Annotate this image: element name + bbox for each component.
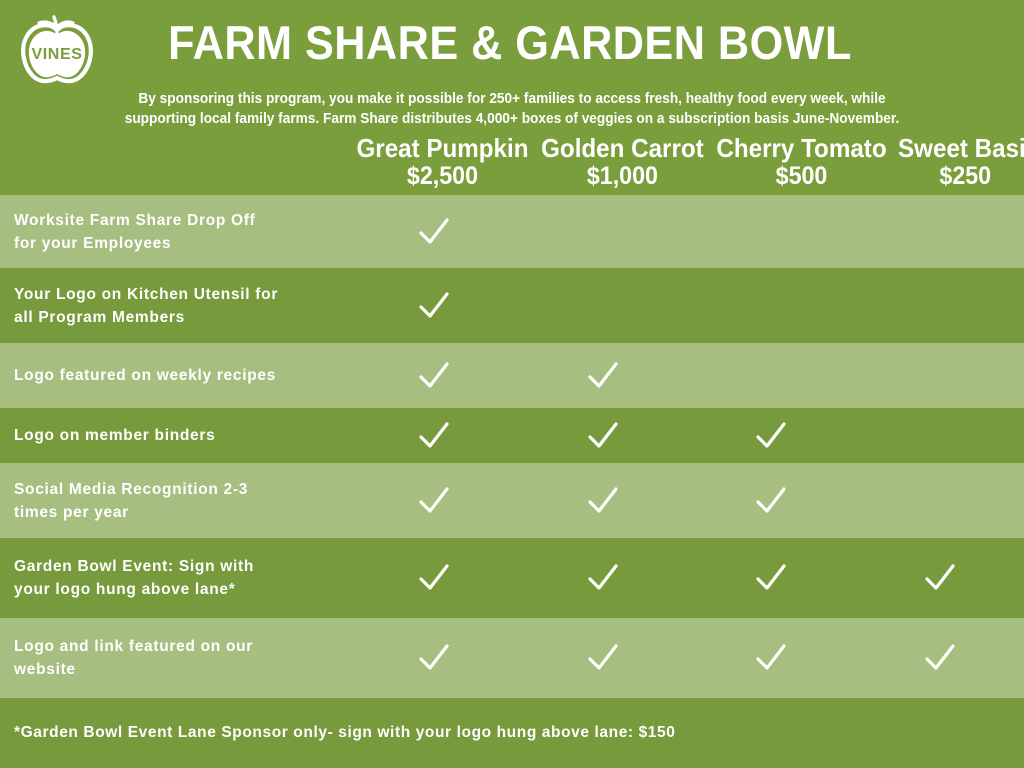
benefit-label: Your Logo on Kitchen Utensil forall Prog…: [0, 283, 350, 329]
tier-price-cherry-tomato: $500: [716, 162, 886, 190]
check-icon: [586, 641, 620, 675]
benefit-label: Logo featured on weekly recipes: [0, 364, 350, 387]
benefit-label: Logo on member binders: [0, 424, 350, 447]
check-icon: [923, 641, 957, 675]
tier-price-golden-carrot: $1,000: [541, 162, 704, 190]
benefit-cell-golden-carrot: [519, 618, 688, 698]
benefit-label-line1: Logo and link featured on our: [14, 635, 342, 658]
tier-name-sweet-basil: Sweet Basil: [898, 134, 1024, 162]
table-row: Social Media Recognition 2-3times per ye…: [0, 463, 1024, 538]
benefit-label: Logo and link featured on ourwebsite: [0, 635, 350, 681]
poster-footer: *Garden Bowl Event Lane Sponsor only- si…: [0, 698, 1024, 768]
tier-name-golden-carrot: Golden Carrot: [541, 134, 704, 162]
benefit-cell-golden-carrot: [519, 463, 688, 538]
benefit-cell-great-pumpkin: [350, 538, 519, 618]
table-row: Logo on member binders: [0, 408, 1024, 463]
tier-name-cherry-tomato: Cherry Tomato: [716, 134, 886, 162]
check-icon: [417, 359, 451, 393]
benefit-cell-cherry-tomato: [687, 195, 856, 268]
check-icon: [417, 641, 451, 675]
benefit-cell-cherry-tomato: [687, 538, 856, 618]
benefit-label-line1: Logo featured on weekly recipes: [14, 364, 342, 387]
benefits-table: Worksite Farm Share Drop Offfor your Emp…: [0, 195, 1024, 698]
program-description-line1: By sponsoring this program, you make it …: [45, 90, 980, 110]
check-icon: [754, 641, 788, 675]
benefit-cell-great-pumpkin: [350, 618, 519, 698]
benefit-cell-cherry-tomato: [687, 618, 856, 698]
benefit-label: Garden Bowl Event: Sign withyour logo hu…: [0, 555, 350, 601]
benefit-label-line1: Worksite Farm Share Drop Off: [14, 209, 342, 232]
check-icon: [417, 215, 451, 249]
table-row: Worksite Farm Share Drop Offfor your Emp…: [0, 195, 1024, 268]
sponsorship-tier-poster: VINES FARM SHARE & GARDEN BOWL By sponso…: [0, 0, 1024, 768]
benefit-cell-great-pumpkin: [350, 408, 519, 463]
table-row: Your Logo on Kitchen Utensil forall Prog…: [0, 268, 1024, 343]
check-icon: [754, 419, 788, 453]
benefit-cell-sweet-basil: [856, 343, 1024, 408]
benefit-cell-sweet-basil: [856, 408, 1024, 463]
check-icon: [417, 419, 451, 453]
benefit-label-line2: for your Employees: [14, 232, 342, 255]
tier-name-great-pumpkin: Great Pumpkin: [356, 134, 528, 162]
check-icon: [586, 359, 620, 393]
check-icon: [586, 561, 620, 595]
check-icon: [586, 419, 620, 453]
benefit-cell-golden-carrot: [519, 538, 688, 618]
benefit-cell-sweet-basil: [856, 268, 1024, 343]
benefit-label-line1: Garden Bowl Event: Sign with: [14, 555, 342, 578]
page-title: FARM SHARE & GARDEN BOWL: [142, 16, 878, 70]
benefit-cell-sweet-basil: [856, 538, 1024, 618]
benefit-label-line2: times per year: [14, 501, 342, 524]
benefit-label-line2: website: [14, 658, 342, 681]
benefit-label-line1: Social Media Recognition 2-3: [14, 478, 342, 501]
tier-price-great-pumpkin: $2,500: [356, 162, 528, 190]
table-row: Garden Bowl Event: Sign withyour logo hu…: [0, 538, 1024, 618]
benefit-cell-sweet-basil: [856, 195, 1024, 268]
benefit-cell-great-pumpkin: [350, 463, 519, 538]
benefit-cell-sweet-basil: [856, 463, 1024, 538]
benefit-cell-great-pumpkin: [350, 268, 519, 343]
benefit-label-line1: Logo on member binders: [14, 424, 342, 447]
column-header-great-pumpkin: Great Pumpkin $2,500: [350, 134, 535, 192]
check-icon: [754, 484, 788, 518]
benefit-cell-great-pumpkin: [350, 195, 519, 268]
benefit-cell-golden-carrot: [519, 195, 688, 268]
footnote: *Garden Bowl Event Lane Sponsor only- si…: [0, 724, 675, 742]
column-header-spacer: [0, 134, 350, 192]
tier-column-headers: Great Pumpkin $2,500 Golden Carrot $1,00…: [0, 134, 1024, 192]
benefit-cell-golden-carrot: [519, 408, 688, 463]
check-icon: [586, 484, 620, 518]
program-description: By sponsoring this program, you make it …: [45, 90, 980, 129]
vines-logo-text: VINES: [31, 46, 82, 63]
vines-logo: VINES: [16, 10, 98, 88]
benefit-cell-cherry-tomato: [687, 408, 856, 463]
benefit-label: Worksite Farm Share Drop Offfor your Emp…: [0, 209, 350, 255]
benefit-cell-cherry-tomato: [687, 343, 856, 408]
program-description-line2: supporting local family farms. Farm Shar…: [45, 110, 980, 130]
benefit-cell-golden-carrot: [519, 343, 688, 408]
benefit-label: Social Media Recognition 2-3times per ye…: [0, 478, 350, 524]
check-icon: [417, 484, 451, 518]
table-row: Logo and link featured on ourwebsite: [0, 618, 1024, 698]
column-header-cherry-tomato: Cherry Tomato $500: [710, 134, 893, 192]
benefit-cell-great-pumpkin: [350, 343, 519, 408]
check-icon: [754, 561, 788, 595]
table-row: Logo featured on weekly recipes: [0, 343, 1024, 408]
benefit-label-line1: Your Logo on Kitchen Utensil for: [14, 283, 342, 306]
check-icon: [417, 561, 451, 595]
benefit-cell-cherry-tomato: [687, 463, 856, 538]
benefit-cell-cherry-tomato: [687, 268, 856, 343]
check-icon: [417, 289, 451, 323]
tier-price-sweet-basil: $250: [898, 162, 1024, 190]
check-icon: [923, 561, 957, 595]
benefit-cell-sweet-basil: [856, 618, 1024, 698]
benefit-label-line2: all Program Members: [14, 306, 342, 329]
column-header-golden-carrot: Golden Carrot $1,000: [535, 134, 710, 192]
column-header-sweet-basil: Sweet Basil $250: [893, 134, 1024, 192]
poster-header: VINES FARM SHARE & GARDEN BOWL By sponso…: [0, 0, 1024, 195]
benefit-label-line2: your logo hung above lane*: [14, 578, 342, 601]
benefit-cell-golden-carrot: [519, 268, 688, 343]
